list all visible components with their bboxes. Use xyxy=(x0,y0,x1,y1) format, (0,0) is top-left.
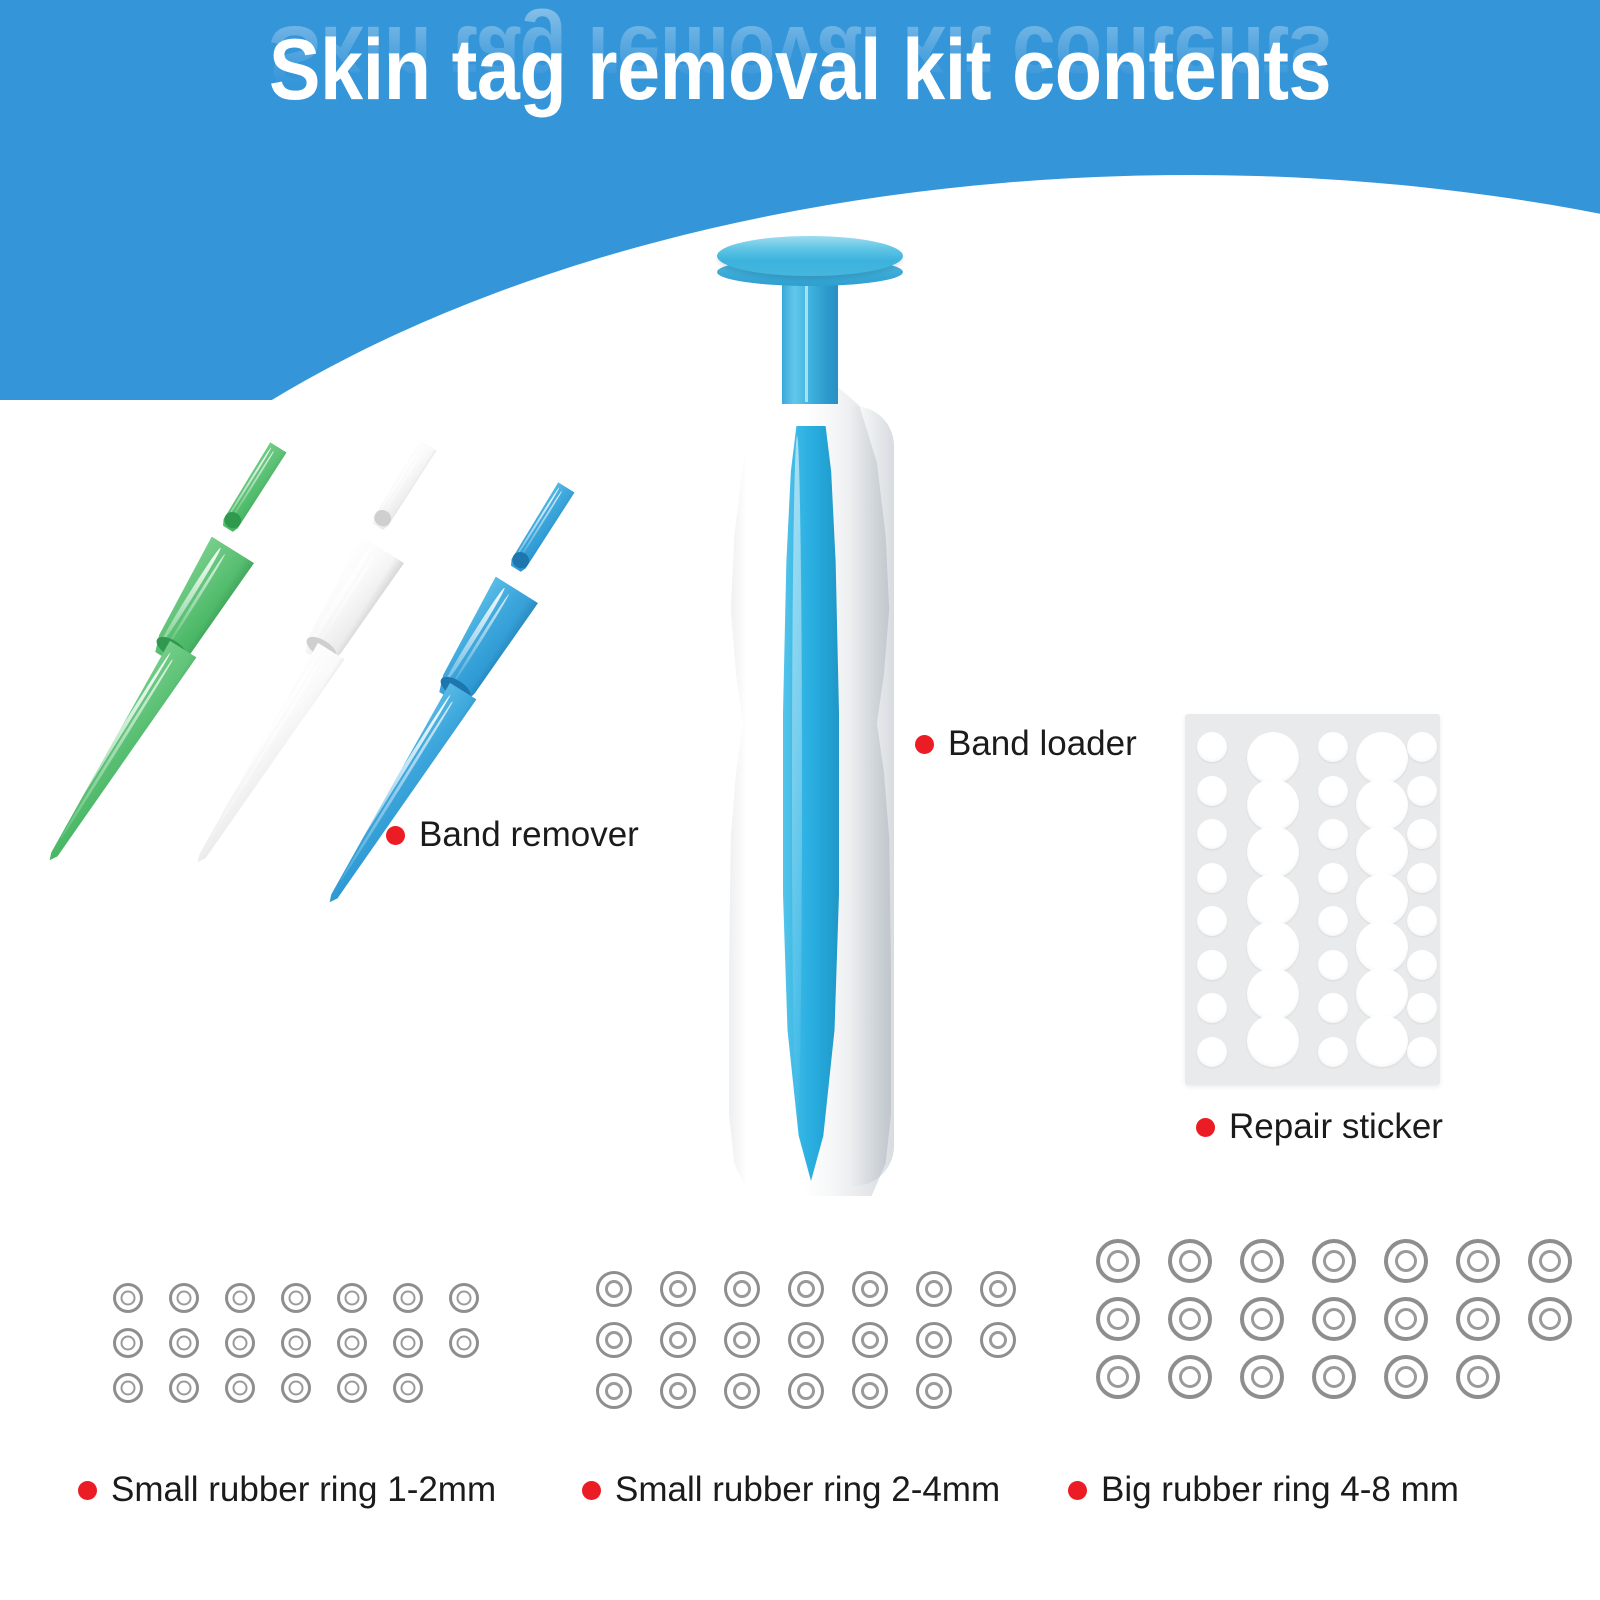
ring-row xyxy=(582,1365,1030,1416)
rubber-ring-icon xyxy=(156,1365,212,1410)
rubber-ring-icon xyxy=(774,1365,838,1416)
sticker-dot xyxy=(1407,1037,1437,1067)
rubber-ring-icon xyxy=(1082,1290,1154,1348)
bullet-icon xyxy=(582,1481,601,1500)
sticker-dot xyxy=(1356,968,1408,1020)
bullet-icon xyxy=(1196,1118,1215,1137)
rubber-ring-icon xyxy=(966,1314,1030,1365)
rubber-ring-label-3-text: Big rubber ring 4-8 mm xyxy=(1101,1470,1459,1510)
rubber-ring-icon xyxy=(436,1320,492,1365)
sticker-dot xyxy=(1356,732,1408,784)
sticker-dot xyxy=(1407,819,1437,849)
sticker-dot xyxy=(1247,779,1299,831)
sticker-dot xyxy=(1318,732,1348,762)
rubber-ring-icon xyxy=(1154,1348,1226,1406)
rubber-ring-icon xyxy=(1442,1232,1514,1290)
sticker-dot xyxy=(1356,1015,1408,1067)
rubber-ring-icon xyxy=(380,1275,436,1320)
rubber-ring-icon xyxy=(1298,1348,1370,1406)
rubber-ring-icon xyxy=(100,1365,156,1410)
rubber-ring-icon xyxy=(380,1320,436,1365)
rubber-ring-icon xyxy=(966,1263,1030,1314)
ring-row xyxy=(100,1365,492,1410)
rubber-ring-icon xyxy=(582,1314,646,1365)
rubber-ring-icon xyxy=(1298,1232,1370,1290)
rubber-ring-icon xyxy=(1370,1348,1442,1406)
ring-grid-3 xyxy=(1082,1232,1586,1406)
band-remover-label-text: Band remover xyxy=(419,815,639,855)
rubber-ring-label-1: Small rubber ring 1-2mm xyxy=(78,1470,496,1510)
band-remover-group xyxy=(40,420,660,980)
sticker-dot xyxy=(1356,921,1408,973)
bullet-icon xyxy=(386,826,405,845)
rubber-ring-label-3: Big rubber ring 4-8 mm xyxy=(1068,1470,1459,1510)
rubber-ring-icon xyxy=(1514,1290,1586,1348)
rubber-ring-icon xyxy=(582,1263,646,1314)
band-loader-label: Band loader xyxy=(915,724,1137,764)
rubber-ring-icon xyxy=(1082,1348,1154,1406)
rubber-ring-icon xyxy=(324,1320,380,1365)
rubber-ring-icon xyxy=(902,1365,966,1416)
rubber-ring-icon xyxy=(774,1263,838,1314)
rubber-ring-icon xyxy=(380,1365,436,1410)
rubber-ring-icon xyxy=(156,1275,212,1320)
infographic-page: Skin tag removal kit contents Skin tag r… xyxy=(0,0,1600,1600)
sticker-dot xyxy=(1247,921,1299,973)
sticker-dot xyxy=(1356,779,1408,831)
sticker-dot xyxy=(1356,874,1408,926)
rubber-ring-icon xyxy=(436,1275,492,1320)
repair-sticker-label: Repair sticker xyxy=(1196,1107,1443,1147)
rubber-ring-icon xyxy=(1154,1232,1226,1290)
sticker-dot xyxy=(1318,863,1348,893)
rubber-ring-icon xyxy=(100,1320,156,1365)
band-loader-stem-highlight xyxy=(805,280,808,402)
rubber-ring-icon xyxy=(1154,1290,1226,1348)
sticker-dot xyxy=(1318,1037,1348,1067)
rubber-ring-icon xyxy=(100,1275,156,1320)
band-loader-plunger-disc xyxy=(717,236,903,276)
rubber-ring-icon xyxy=(710,1314,774,1365)
sticker-dot xyxy=(1247,1015,1299,1067)
rubber-ring-icon xyxy=(710,1263,774,1314)
ring-row xyxy=(1082,1290,1586,1348)
rubber-ring-icon xyxy=(838,1314,902,1365)
rubber-ring-icon xyxy=(1514,1232,1586,1290)
rubber-ring-icon xyxy=(646,1314,710,1365)
sticker-dot xyxy=(1407,863,1437,893)
rubber-ring-icon xyxy=(838,1263,902,1314)
rubber-ring-icon xyxy=(1226,1348,1298,1406)
sticker-dot xyxy=(1318,950,1348,980)
sticker-dot xyxy=(1318,819,1348,849)
ring-row xyxy=(582,1314,1030,1365)
rubber-ring-icon xyxy=(212,1365,268,1410)
rubber-ring-label-2: Small rubber ring 2-4mm xyxy=(582,1470,1000,1510)
blue-tube xyxy=(503,479,579,576)
rubber-ring-group-3 xyxy=(1082,1232,1586,1406)
bullet-icon xyxy=(915,735,934,754)
rubber-ring-icon xyxy=(324,1275,380,1320)
rubber-ring-icon xyxy=(324,1365,380,1410)
rubber-ring-icon xyxy=(1226,1232,1298,1290)
rubber-ring-label-1-text: Small rubber ring 1-2mm xyxy=(111,1470,496,1510)
band-loader-body-shadow xyxy=(850,406,894,1186)
rubber-ring-icon xyxy=(1442,1348,1514,1406)
sticker-dot xyxy=(1197,950,1227,980)
white-cone xyxy=(179,639,350,875)
rubber-ring-icon xyxy=(710,1365,774,1416)
ring-row xyxy=(1082,1348,1586,1406)
sticker-dot xyxy=(1197,732,1227,762)
rubber-ring-icon xyxy=(646,1263,710,1314)
ring-row xyxy=(1082,1232,1586,1290)
rubber-ring-icon xyxy=(774,1314,838,1365)
sticker-dot xyxy=(1247,826,1299,878)
blue-cone xyxy=(311,679,482,915)
ring-grid-2 xyxy=(582,1263,1030,1416)
rubber-ring-icon xyxy=(1226,1290,1298,1348)
bullet-icon xyxy=(1068,1481,1087,1500)
rubber-ring-icon xyxy=(582,1365,646,1416)
rubber-ring-icon xyxy=(268,1365,324,1410)
sticker-dot xyxy=(1407,776,1437,806)
rubber-ring-icon xyxy=(1298,1290,1370,1348)
sticker-dot xyxy=(1247,874,1299,926)
band-loader-graphic xyxy=(700,236,920,1196)
rubber-ring-icon xyxy=(902,1263,966,1314)
sticker-dot xyxy=(1197,1037,1227,1067)
green-tube xyxy=(215,439,291,536)
band-remover-label: Band remover xyxy=(386,815,639,855)
rubber-ring-icon xyxy=(1442,1290,1514,1348)
sticker-dot xyxy=(1247,968,1299,1020)
rubber-ring-group-1 xyxy=(100,1275,492,1410)
rubber-ring-icon xyxy=(838,1365,902,1416)
sticker-dot xyxy=(1318,776,1348,806)
bullet-icon xyxy=(78,1481,97,1500)
sticker-dot xyxy=(1247,732,1299,784)
sticker-dot xyxy=(1407,950,1437,980)
sticker-dot xyxy=(1197,776,1227,806)
rubber-ring-icon xyxy=(902,1314,966,1365)
rubber-ring-icon xyxy=(1370,1290,1442,1348)
band-loader-label-text: Band loader xyxy=(948,724,1137,764)
white-tube xyxy=(365,437,441,534)
rubber-ring-group-2 xyxy=(582,1263,1030,1416)
rubber-ring-icon xyxy=(1082,1232,1154,1290)
repair-sticker-sheet xyxy=(1185,714,1440,1085)
rubber-ring-icon xyxy=(212,1275,268,1320)
rubber-ring-icon xyxy=(156,1320,212,1365)
rubber-ring-icon xyxy=(212,1320,268,1365)
rubber-ring-icon xyxy=(646,1365,710,1416)
ring-grid-1 xyxy=(100,1275,492,1410)
repair-sticker-label-text: Repair sticker xyxy=(1229,1107,1443,1147)
ring-row xyxy=(100,1275,492,1320)
sticker-dot xyxy=(1197,863,1227,893)
band-loader-grip-highlight xyxy=(792,436,802,1136)
green-cone xyxy=(31,637,202,873)
rubber-ring-icon xyxy=(1370,1232,1442,1290)
rubber-ring-label-2-text: Small rubber ring 2-4mm xyxy=(615,1470,1000,1510)
sticker-dot xyxy=(1356,826,1408,878)
ring-row xyxy=(582,1263,1030,1314)
ring-row xyxy=(100,1320,492,1365)
sticker-dot xyxy=(1407,732,1437,762)
sticker-dot xyxy=(1197,819,1227,849)
rubber-ring-icon xyxy=(268,1275,324,1320)
rubber-ring-icon xyxy=(268,1320,324,1365)
